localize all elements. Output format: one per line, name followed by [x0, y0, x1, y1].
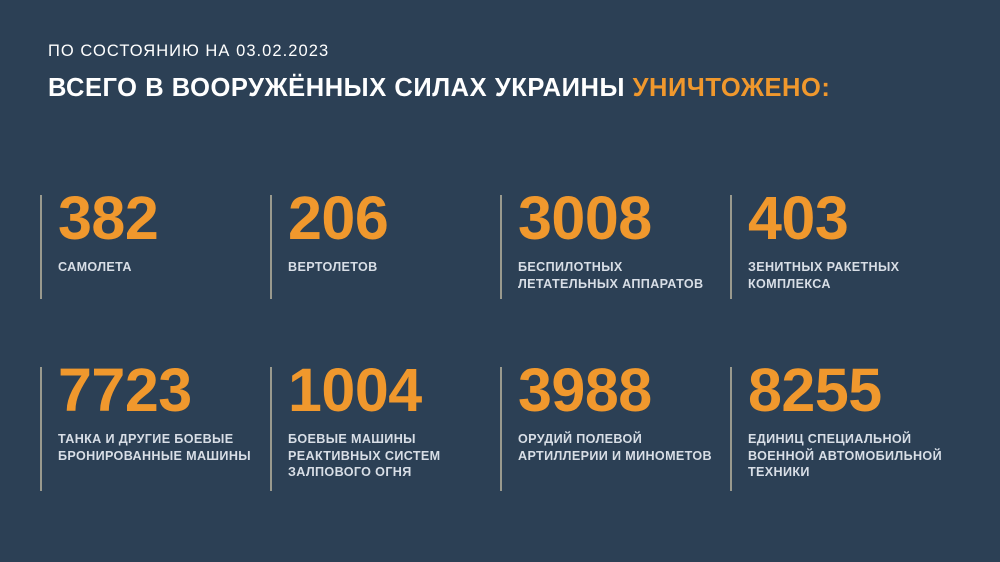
divider-line — [40, 367, 42, 491]
stat-value: 7723 — [58, 358, 270, 422]
stat-card-tanks: 7723 ТАНКА И ДРУГИЕ БОЕВЫЕ БРОНИРОВАННЫЕ… — [40, 358, 270, 481]
page-title-main: ВСЕГО В ВООРУЖЁННЫХ СИЛАХ УКРАИНЫ — [48, 74, 625, 102]
stat-label-line: ЛЕТАТЕЛЬНЫХ АППАРАТОВ — [518, 276, 730, 293]
stat-value: 206 — [288, 186, 500, 250]
divider-line — [730, 367, 732, 491]
stat-card-uav: 3008 БЕСПИЛОТНЫХ ЛЕТАТЕЛЬНЫХ АППАРАТОВ — [500, 186, 730, 292]
stats-grid: 382 САМОЛЕТА 206 ВЕРТОЛЕТОВ 3008 БЕСПИЛО… — [40, 186, 960, 481]
stat-label-line: БОЕВЫЕ МАШИНЫ — [288, 431, 500, 448]
stat-label-line: АРТИЛЛЕРИИ И МИНОМЕТОВ — [518, 448, 730, 465]
poster-header: ПО СОСТОЯНИЮ НА 03.02.2023 ВСЕГО В ВООРУ… — [48, 41, 960, 103]
divider-line — [270, 367, 272, 491]
report-date: ПО СОСТОЯНИЮ НА 03.02.2023 — [48, 41, 960, 61]
stat-label-line: ЕДИНИЦ СПЕЦИАЛЬНОЙ — [748, 431, 960, 448]
stat-label: БОЕВЫЕ МАШИНЫ РЕАКТИВНЫХ СИСТЕМ ЗАЛПОВОГ… — [288, 431, 500, 481]
stat-label-line: ЗЕНИТНЫХ РАКЕТНЫХ — [748, 259, 960, 276]
stat-card-helicopters: 206 ВЕРТОЛЕТОВ — [270, 186, 500, 292]
page-title: ВСЕГО В ВООРУЖЁННЫХ СИЛАХ УКРАИНЫ УНИЧТО… — [48, 73, 960, 103]
stat-label: ЗЕНИТНЫХ РАКЕТНЫХ КОМПЛЕКСА — [748, 259, 960, 292]
stat-card-aircraft: 382 САМОЛЕТА — [40, 186, 270, 292]
divider-line — [270, 195, 272, 299]
stat-label-line: САМОЛЕТА — [58, 259, 270, 276]
stat-label: ЕДИНИЦ СПЕЦИАЛЬНОЙ ВОЕННОЙ АВТОМОБИЛЬНОЙ… — [748, 431, 960, 481]
stat-label-line: ВЕРТОЛЕТОВ — [288, 259, 500, 276]
stat-label: ТАНКА И ДРУГИЕ БОЕВЫЕ БРОНИРОВАННЫЕ МАШИ… — [58, 431, 270, 464]
stat-label: САМОЛЕТА — [58, 259, 270, 276]
stat-card-mlrs: 1004 БОЕВЫЕ МАШИНЫ РЕАКТИВНЫХ СИСТЕМ ЗАЛ… — [270, 358, 500, 481]
stat-label-line: ВОЕННОЙ АВТОМОБИЛЬНОЙ — [748, 448, 960, 465]
stat-label-line: БЕСПИЛОТНЫХ — [518, 259, 730, 276]
divider-line — [500, 367, 502, 491]
stat-label-line: КОМПЛЕКСА — [748, 276, 960, 293]
stat-label: БЕСПИЛОТНЫХ ЛЕТАТЕЛЬНЫХ АППАРАТОВ — [518, 259, 730, 292]
stat-label-line: ОРУДИЙ ПОЛЕВОЙ — [518, 431, 730, 448]
stat-label-line: ЗАЛПОВОГО ОГНЯ — [288, 464, 500, 481]
stat-label-line: ТАНКА И ДРУГИЕ БОЕВЫЕ — [58, 431, 270, 448]
stat-label-line: БРОНИРОВАННЫЕ МАШИНЫ — [58, 448, 270, 465]
stat-card-artillery: 3988 ОРУДИЙ ПОЛЕВОЙ АРТИЛЛЕРИИ И МИНОМЕТ… — [500, 358, 730, 481]
stat-label-line: РЕАКТИВНЫХ СИСТЕМ — [288, 448, 500, 465]
stat-card-air-defence: 403 ЗЕНИТНЫХ РАКЕТНЫХ КОМПЛЕКСА — [730, 186, 960, 292]
stat-value: 1004 — [288, 358, 500, 422]
page-title-accent: УНИЧТОЖЕНО: — [633, 74, 831, 102]
stat-value: 8255 — [748, 358, 960, 422]
stat-value: 382 — [58, 186, 270, 250]
stat-label-line: ТЕХНИКИ — [748, 464, 960, 481]
stat-value: 403 — [748, 186, 960, 250]
stat-value: 3988 — [518, 358, 730, 422]
stat-value: 3008 — [518, 186, 730, 250]
infographic-poster: ПО СОСТОЯНИЮ НА 03.02.2023 ВСЕГО В ВООРУ… — [0, 0, 1000, 562]
divider-line — [730, 195, 732, 299]
divider-line — [500, 195, 502, 299]
stat-label: ВЕРТОЛЕТОВ — [288, 259, 500, 276]
stat-label: ОРУДИЙ ПОЛЕВОЙ АРТИЛЛЕРИИ И МИНОМЕТОВ — [518, 431, 730, 464]
divider-line — [40, 195, 42, 299]
stat-card-military-vehicles: 8255 ЕДИНИЦ СПЕЦИАЛЬНОЙ ВОЕННОЙ АВТОМОБИ… — [730, 358, 960, 481]
